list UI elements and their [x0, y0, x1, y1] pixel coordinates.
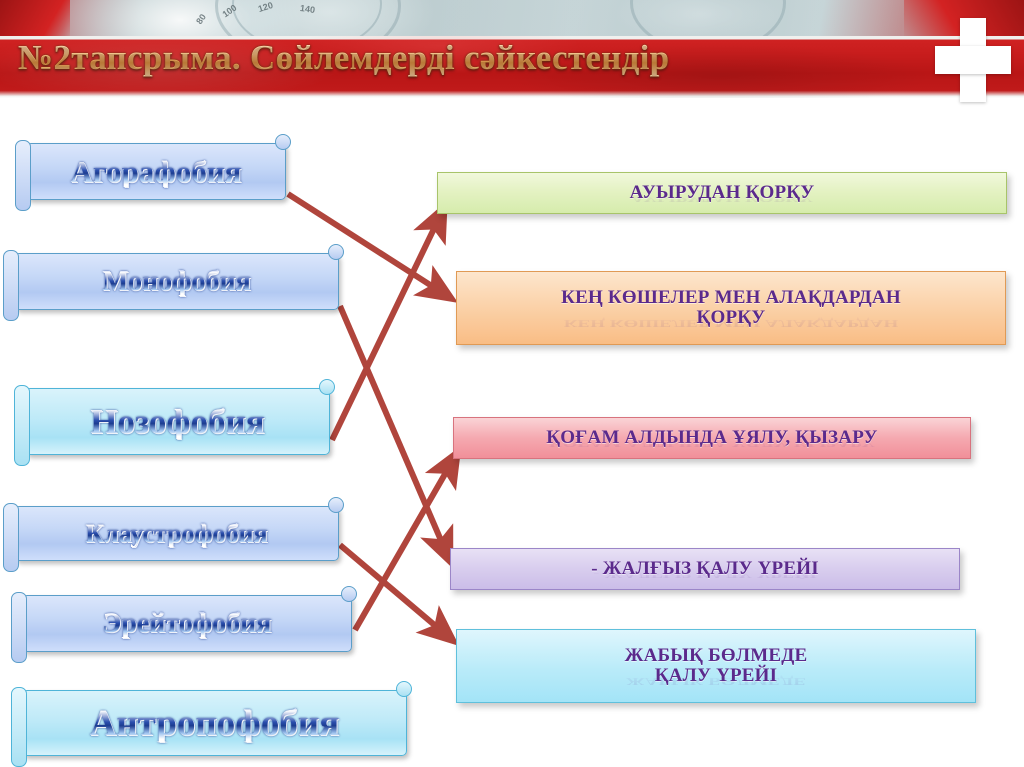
term-box-monophobia[interactable]: Монофобия — [14, 253, 339, 310]
answer-box-fear-of-open-spaces[interactable]: КЕҢ КӨШЕЛЕР МЕН АЛАҚДАРДАН ҚОРҚУКЕҢ КӨШЕ… — [456, 271, 1006, 345]
photo-red-left — [0, 0, 70, 36]
arrow-ereytophobia-to-fear-of-blushing — [355, 455, 456, 630]
answer-label: - ЖАЛҒЫЗ ҚАЛУ ҮРЕЙІ — [451, 559, 959, 579]
scroll-curl-right-icon — [341, 586, 357, 602]
scroll-curl-left-icon — [3, 503, 19, 572]
term-label: Монофобия — [102, 268, 251, 296]
gauge-tick-80: 80 — [194, 12, 208, 26]
scroll-curl-right-icon — [396, 681, 412, 697]
scroll-curl-right-icon — [275, 134, 291, 150]
page-title: №2тапсрыма. Сөйлемдерді сәйкестендір — [18, 38, 669, 78]
scroll-curl-right-icon — [319, 379, 335, 395]
answer-label: КЕҢ КӨШЕЛЕР МЕН АЛАҚДАРДАН ҚОРҚУ — [457, 288, 1005, 328]
term-box-ereytophobia[interactable]: Эрейтофобия — [22, 595, 352, 652]
term-label: Нозофобия — [90, 404, 264, 439]
term-box-nosophobia[interactable]: Нозофобия — [25, 388, 330, 455]
term-label: Агорафобия — [70, 156, 241, 187]
term-label: Клаустрофобия — [85, 521, 267, 547]
answer-box-fear-of-illness[interactable]: АУЫРУДАН ҚОРҚУАУЫРУДАН ҚОРҚУ — [437, 172, 1007, 214]
gauge-ring-second — [630, 0, 786, 36]
term-box-claustrophobia[interactable]: Клаустрофобия — [14, 506, 339, 561]
answer-label: ЖАБЫҚ БӨЛМЕДЕ ҚАЛУ ҮРЕЙІ — [457, 646, 975, 686]
scroll-curl-left-icon — [11, 592, 27, 663]
answer-box-fear-of-being-alone[interactable]: - ЖАЛҒЫЗ ҚАЛУ ҮРЕЙІ- ЖАЛҒЫЗ ҚАЛУ ҮРЕЙІ — [450, 548, 960, 590]
scroll-curl-left-icon — [3, 250, 19, 321]
arrow-monophobia-to-fear-of-being-alone — [340, 306, 449, 559]
gauge-tick-140: 140 — [299, 3, 315, 15]
medical-cross-icon — [935, 18, 1011, 102]
term-label: Антропофобия — [90, 705, 340, 742]
blood-pressure-gauge-photo: 80 100 120 140 — [0, 0, 1024, 36]
scroll-curl-right-icon — [328, 244, 344, 260]
answer-label: ҚОҒАМ АЛДЫНДА ҰЯЛУ, ҚЫЗАРУ — [454, 428, 970, 448]
term-label: Эрейтофобия — [102, 610, 271, 638]
scroll-curl-right-icon — [328, 497, 344, 513]
answer-box-fear-of-closed-spaces[interactable]: ЖАБЫҚ БӨЛМЕДЕ ҚАЛУ ҮРЕЙІЖАБЫҚ БӨЛМЕДЕ ҚА… — [456, 629, 976, 703]
term-box-anthropophobia[interactable]: Антропофобия — [22, 690, 407, 756]
arrow-nosophobia-to-fear-of-illness — [332, 210, 443, 440]
term-box-agoraphobia[interactable]: Агорафобия — [26, 143, 286, 200]
scroll-curl-left-icon — [11, 687, 27, 767]
answer-box-fear-of-blushing[interactable]: ҚОҒАМ АЛДЫНДА ҰЯЛУ, ҚЫЗАРУҚОҒАМ АЛДЫНДА … — [453, 417, 971, 459]
slide-canvas: 80 100 120 140 №2тапсрыма. Сөйлемдерді с… — [0, 0, 1024, 767]
scroll-curl-left-icon — [14, 385, 30, 466]
answer-label: АУЫРУДАН ҚОРҚУ — [438, 183, 1006, 203]
scroll-curl-left-icon — [15, 140, 31, 211]
